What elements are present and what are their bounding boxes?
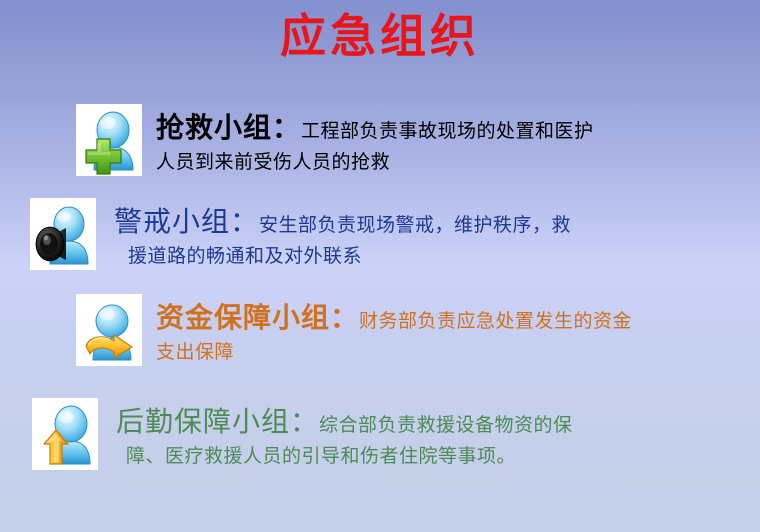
team-row-rescue-line2: 人员到来前受伤人员的抢救	[156, 149, 594, 177]
team-row-logistics-text: 后勤保障小组：综合部负责救援设备物资的保 障、医疗救援人员的引导和伤者住院等事项…	[116, 398, 573, 470]
team-body-funding-line1: 财务部负责应急处置发生的资金	[359, 310, 632, 332]
team-heading-funding: 资金保障小组：	[156, 301, 359, 334]
team-row-funding-line1: 资金保障小组：财务部负责应急处置发生的资金	[156, 298, 632, 339]
team-row-guard-line1: 警戒小组：安生部负责现场警戒，维护秩序，救	[114, 202, 571, 243]
team-body-logistics-line1: 综合部负责救援设备物资的保	[319, 414, 573, 436]
team-row-funding: 资金保障小组：财务部负责应急处置发生的资金 支出保障	[76, 294, 632, 366]
team-heading-guard: 警戒小组：	[114, 205, 259, 238]
person-arrow-right-icon	[76, 294, 142, 366]
team-row-rescue-text: 抢救小组：工程部负责事故现场的处置和医护 人员到来前受伤人员的抢救	[156, 104, 594, 176]
team-row-guard: 警戒小组：安生部负责现场警戒，维护秩序，救 援道路的畅通和及对外联系	[30, 198, 571, 270]
team-row-logistics: 后勤保障小组：综合部负责救援设备物资的保 障、医疗救援人员的引导和伤者住院等事项…	[32, 398, 573, 470]
team-row-funding-text: 资金保障小组：财务部负责应急处置发生的资金 支出保障	[156, 294, 632, 366]
team-row-rescue-line1: 抢救小组：工程部负责事故现场的处置和医护	[156, 108, 594, 149]
team-row-guard-text: 警戒小组：安生部负责现场警戒，维护秩序，救 援道路的畅通和及对外联系	[114, 198, 571, 270]
team-body-funding-line2: 支出保障	[156, 341, 234, 363]
team-body-rescue-line1: 工程部负责事故现场的处置和医护	[301, 120, 594, 142]
page-title: 应急组织	[0, 8, 760, 66]
team-body-logistics-line2: 障、医疗救援人员的引导和伤者住院等事项。	[126, 445, 516, 467]
presentation-slide: 应急组织	[0, 0, 760, 532]
team-row-funding-line2: 支出保障	[156, 339, 632, 367]
person-arrow-up-icon	[32, 398, 98, 470]
team-heading-rescue: 抢救小组：	[156, 111, 301, 144]
person-speaker-icon	[30, 198, 96, 270]
team-body-guard-line2: 援道路的畅通和及对外联系	[128, 245, 362, 267]
team-row-logistics-line1: 后勤保障小组：综合部负责救援设备物资的保	[116, 402, 573, 443]
team-row-rescue: 抢救小组：工程部负责事故现场的处置和医护 人员到来前受伤人员的抢救	[76, 104, 594, 176]
team-body-rescue-line2: 人员到来前受伤人员的抢救	[156, 151, 390, 173]
team-row-guard-line2: 援道路的畅通和及对外联系	[114, 243, 571, 271]
team-body-guard-line1: 安生部负责现场警戒，维护秩序，救	[259, 214, 571, 236]
team-heading-logistics: 后勤保障小组：	[116, 405, 319, 438]
team-row-logistics-line2: 障、医疗救援人员的引导和伤者住院等事项。	[116, 443, 573, 471]
person-plus-icon	[76, 104, 142, 176]
